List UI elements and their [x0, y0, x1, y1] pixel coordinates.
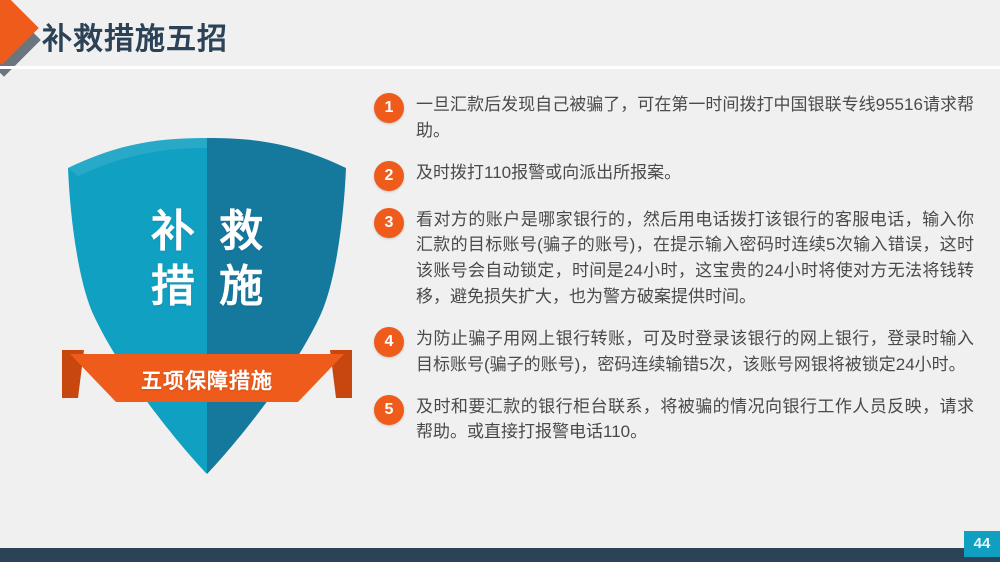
- tip-text: 一旦汇款后发现自己被骗了，可在第一时间拨打中国银联专线95516请求帮助。: [416, 92, 974, 144]
- tip-text: 及时和要汇款的银行柜台联系，将被骗的情况向银行工作人员反映，请求帮助。或直接打报…: [416, 394, 974, 446]
- tip-number-badge: 5: [374, 395, 404, 425]
- slide-canvas: 补救措施五招 补 救 措 施 五项保障措施 1 一旦汇款后发现自己被骗了，可在第…: [0, 0, 1000, 562]
- tip-number-badge: 2: [374, 161, 404, 191]
- footer-bar: [0, 548, 1000, 562]
- tip-text: 及时拨打110报警或向派出所报案。: [416, 160, 974, 186]
- shield-banner-label: 五项保障措施: [62, 365, 352, 395]
- list-item: 5 及时和要汇款的银行柜台联系，将被骗的情况向银行工作人员反映，请求帮助。或直接…: [374, 394, 974, 446]
- list-item: 4 为防止骗子用网上银行转账，可及时登录该银行的网上银行，登录时输入目标账号(骗…: [374, 326, 974, 378]
- tips-list: 1 一旦汇款后发现自己被骗了，可在第一时间拨打中国银联专线95516请求帮助。 …: [374, 92, 974, 461]
- list-item: 1 一旦汇款后发现自己被骗了，可在第一时间拨打中国银联专线95516请求帮助。: [374, 92, 974, 144]
- list-item: 2 及时拨打110报警或向派出所报案。: [374, 160, 974, 191]
- corner-orange-diamond-icon: [0, 0, 39, 65]
- shield-graphic: 补 救 措 施 五项保障措施: [62, 136, 352, 476]
- page-title: 补救措施五招: [42, 14, 228, 58]
- tip-number-badge: 4: [374, 327, 404, 357]
- tip-text: 为防止骗子用网上银行转账，可及时登录该银行的网上银行，登录时输入目标账号(骗子的…: [416, 326, 974, 378]
- tip-text: 看对方的账户是哪家银行的，然后用电话拨打该银行的客服电话，输入你汇款的目标账号(…: [416, 207, 974, 310]
- tip-number-badge: 3: [374, 208, 404, 238]
- shield-heading: 补 救 措 施: [62, 204, 352, 315]
- shield-heading-line2: 措 施: [62, 259, 352, 314]
- shield-heading-line1: 补 救: [62, 204, 352, 259]
- tip-number-badge: 1: [374, 93, 404, 123]
- list-item: 3 看对方的账户是哪家银行的，然后用电话拨打该银行的客服电话，输入你汇款的目标账…: [374, 207, 974, 310]
- page-number-badge: 44: [964, 531, 1000, 557]
- title-divider: [0, 66, 1000, 69]
